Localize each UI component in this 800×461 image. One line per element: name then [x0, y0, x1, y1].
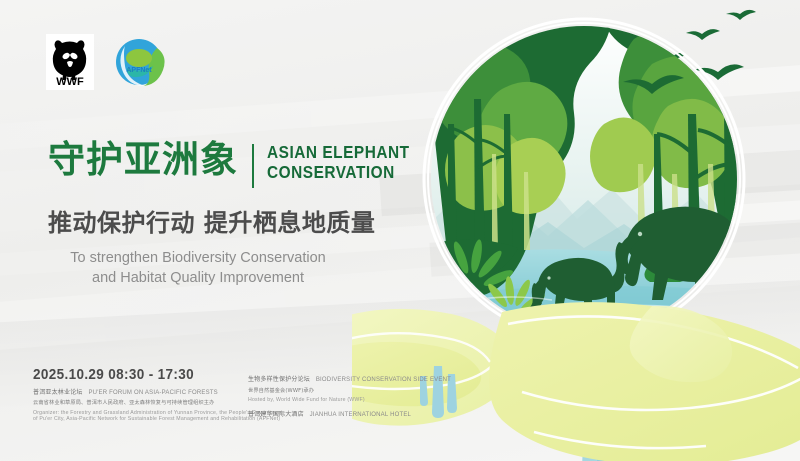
subtitle-cn: 推动保护行动 提升栖息地质量 [48, 203, 429, 238]
side-event: 生物多样性保护分论坛 BIODIVERSITY CONSERVATION SID… [248, 374, 451, 383]
wwf-logo: WWF [46, 34, 94, 90]
title-row: 守护亚洲象 ASIAN ELEPHANT CONSERVATION [48, 140, 429, 188]
page-title-en-line1: ASIAN ELEPHANT [267, 143, 410, 163]
venue-cn: 普洱建华国际大酒店 [248, 411, 304, 418]
title-divider [252, 144, 254, 188]
forum-name: 普洱亚太林业论坛 PU'ER FORUM ON ASIA-PACIFIC FOR… [33, 387, 282, 396]
logo-bar: WWF APFNet [46, 34, 166, 90]
subtitle-en-line2: and Habitat Quality Improvement [48, 268, 348, 288]
organizer-en-line1: Organizer: the Forestry and Grassland Ad… [33, 410, 282, 416]
forum-name-en: PU'ER FORUM ON ASIA-PACIFIC FORESTS [88, 390, 217, 396]
forum-name-cn: 普洱亚太林业论坛 [33, 389, 83, 396]
organizer-en-line2: of Pu'er City, Asia-Pacific Network for … [33, 416, 282, 422]
subtitle-en-line1: To strengthen Biodiversity Conservation [48, 248, 348, 268]
event-date-time: 2025.10.29 08:30 - 17:30 [33, 366, 257, 383]
footer-left: 2025.10.29 08:30 - 17:30 普洱亚太林业论坛 PU'ER … [33, 366, 282, 422]
organizer-cn: 云南省林业和草原局、普洱市人民政府、亚太森林恢复与可持续管理组织主办 [33, 399, 282, 406]
host-en: Hosted by, World Wide Fund for Nature (W… [248, 397, 451, 403]
page-title-cn: 守护亚洲象 [48, 140, 238, 180]
poster-canvas: WWF APFNet 守护亚洲象 ASIAN ELEPHANT CONSERVA… [0, 0, 800, 461]
apfnet-logo: APFNet [112, 35, 166, 89]
venue-en: JIANHUA INTERNATIONAL HOTEL [310, 412, 411, 418]
page-title-en: ASIAN ELEPHANT CONSERVATION [267, 140, 410, 182]
page-title-en-line2: CONSERVATION [267, 163, 410, 183]
headline-block: 守护亚洲象 ASIAN ELEPHANT CONSERVATION 推动保护行动… [48, 140, 429, 288]
apfnet-logo-text: APFNet [126, 67, 152, 74]
side-event-en: BIODIVERSITY CONSERVATION SIDE EVENT [316, 377, 451, 383]
host-cn: 世界自然基金会(WWF)承办 [248, 387, 451, 394]
subtitle-en: To strengthen Biodiversity Conservation … [48, 248, 348, 288]
venue: 普洱建华国际大酒店 JIANHUA INTERNATIONAL HOTEL [248, 409, 451, 418]
footer-right: 生物多样性保护分论坛 BIODIVERSITY CONSERVATION SID… [248, 374, 451, 418]
wwf-logo-text: WWF [56, 76, 84, 86]
side-event-cn: 生物多样性保护分论坛 [248, 376, 310, 383]
